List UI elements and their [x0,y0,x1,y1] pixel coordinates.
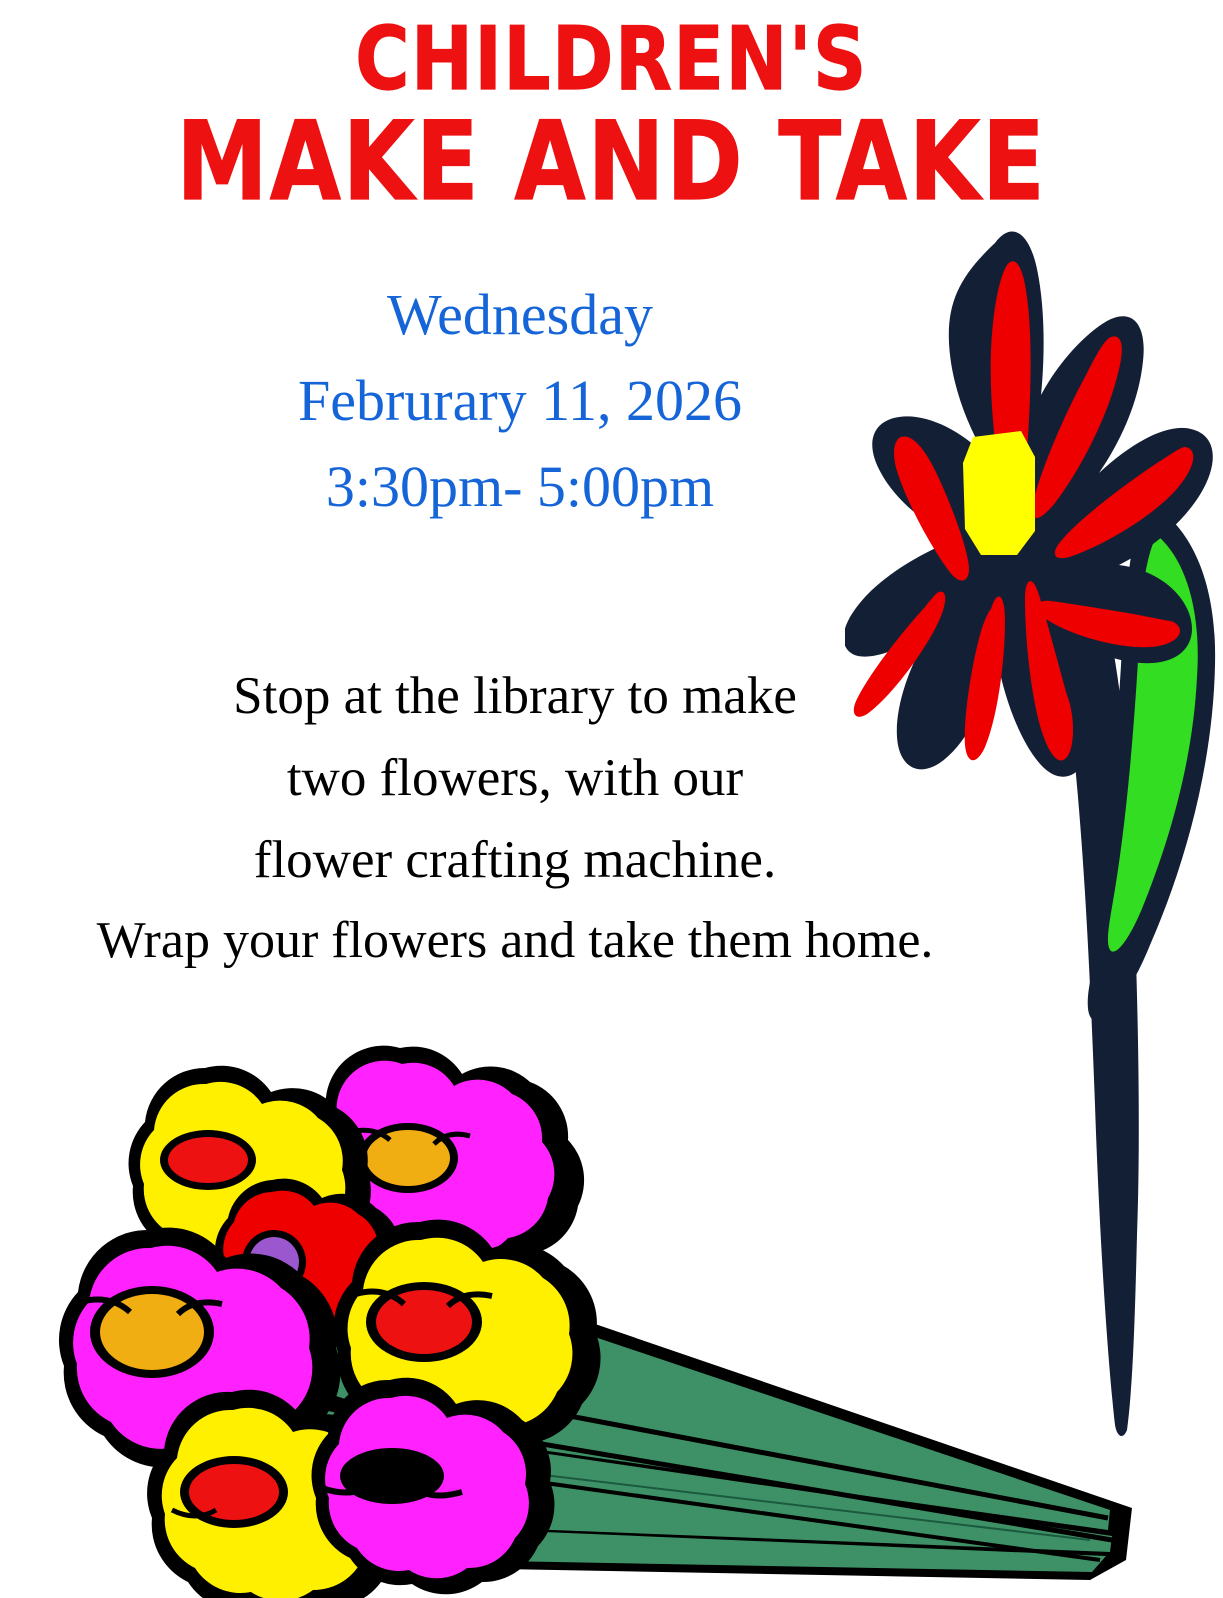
description-line-3: flower crafting machine. [20,819,1010,901]
flower-magenta-left [59,1228,340,1478]
title-line-1: Children's [0,16,1223,103]
event-schedule: Wednesday Februrary 11, 2026 3:30pm- 5:0… [140,272,900,529]
wrap-panel-2 [186,1380,1112,1552]
petal-bottom-right [1025,581,1073,760]
wrap-outline [160,1312,1132,1580]
flower-bouquet-clipart [0,1040,1160,1598]
flower-center [366,1282,482,1362]
wrap-fold-line-3 [178,1432,1100,1560]
wrap-fold-line-2 [186,1384,1112,1540]
flower-center [358,1123,458,1193]
wrap-inner-crease [300,1446,1090,1540]
flower-center [180,1456,288,1528]
event-date: Februrary 11, 2026 [140,358,900,444]
event-description: Stop at the library to make two flowers,… [20,655,1010,982]
bouquet-flowers [59,1046,601,1598]
description-line-2: two flowers, with our [20,737,1010,819]
petal-top-right [1032,336,1122,518]
flower-magenta-bottom [312,1378,555,1595]
description-line-4: Wrap your flowers and take them home. [20,901,1010,982]
petal-left [894,436,969,580]
flower-leaf-green [1108,535,1198,952]
flower-yellow-bottom-left [147,1390,406,1598]
wrap-fold-line-1 [200,1346,1108,1518]
event-time: 3:30pm- 5:00pm [140,444,900,530]
title-line-2: Make and Take [0,108,1223,217]
flower-yellow-right [333,1220,600,1457]
flower-center [242,1230,306,1294]
flower-leaf-outline [1088,500,1215,1021]
flower-magenta-top-right [326,1046,584,1274]
flyer-page: Children's Make and Take Wednesday Febru… [0,0,1223,1598]
petal-right-upper [1055,447,1193,558]
petal-top-center [991,261,1031,517]
event-day: Wednesday [140,272,900,358]
flower-center [963,431,1035,555]
poster-title: Children's Make and Take [0,16,1223,200]
bouquet-wrap [160,1312,1132,1580]
flower-center [90,1286,214,1378]
wrap-panel-1 [196,1324,1110,1530]
flower-yellow-top-left [129,1066,371,1282]
wrap-panel-3 [174,1426,1106,1572]
description-line-1: Stop at the library to make [20,655,1010,737]
petal-right-lower [1036,601,1180,647]
flower-center [340,1448,444,1504]
flower-red-center [215,1179,404,1349]
flower-stem-outline [1041,525,1139,1436]
flower-center [160,1130,256,1190]
